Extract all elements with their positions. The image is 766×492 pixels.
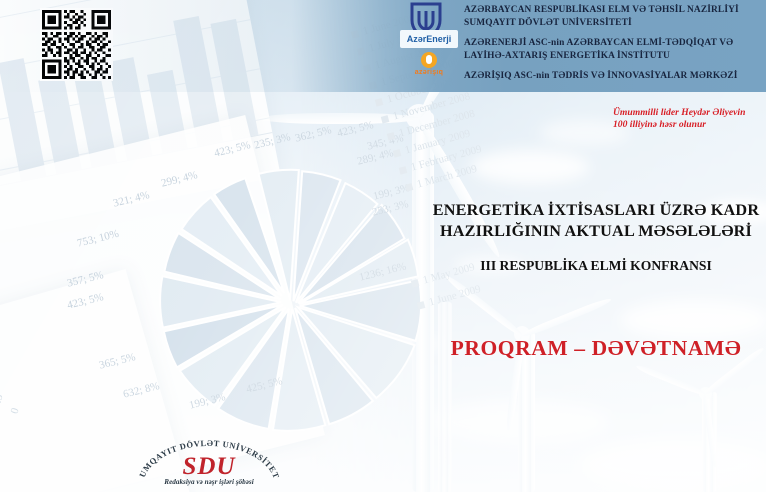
azerisiq-wordmark: azərişıq — [408, 69, 450, 76]
org-line: SUMQAYIT DÖVLƏT UNİVERSİTETİ — [464, 18, 632, 28]
organizing-institutions: AZƏRBAYCAN RESPUBLİKASI ELM VƏ TƏHSİL NA… — [464, 4, 764, 91]
program-cover: 423 289 253 299 400 200 0 0.30 0.88 0.35… — [0, 0, 766, 492]
title-line-1: ENERGETİKA İXTİSASLARI ÜZRƏ KADR — [433, 201, 759, 219]
org-line: AZƏRENERJİ ASC-nin AZƏRBAYCAN ELMİ-TƏDQİ… — [464, 38, 733, 48]
dedication-line-2: 100 illiyinə həsr olunur — [613, 119, 706, 130]
azerisiq-logo: azərişıq — [408, 52, 450, 82]
sdu-monogram: SDU — [134, 453, 284, 481]
org-block-3: AZƏRİŞIQ ASC-nin TƏDRİS VƏ İNNOVASİYALAR… — [464, 70, 764, 83]
org-line: AZƏRİŞIQ ASC-nin TƏDRİS VƏ İNNOVASİYALAR… — [464, 71, 738, 81]
org-line: LAYİHƏ-AXTARIŞ ENERGETİKA İNSTİTUTU — [464, 51, 670, 61]
sdu-publishing-logo: SUMQAYIT DÖVLƏT UNİVERSİTETİ SDU Redaksi… — [134, 437, 284, 489]
org-block-1: AZƏRBAYCAN RESPUBLİKASI ELM VƏ TƏHSİL NA… — [464, 4, 764, 29]
sdu-department-label: Redaksiya və nəşr işləri şöbəsi — [134, 478, 284, 486]
conference-title: ENERGETİKA İXTİSASLARI ÜZRƏ KADR HAZIRLI… — [426, 200, 766, 242]
lightbulb-icon — [421, 52, 437, 68]
dedication-line-1: Ümummilli lider Heydər Əliyevin — [613, 107, 745, 118]
conference-subtitle: III RESPUBLİKA ELMİ KONFRANSI — [426, 258, 766, 274]
org-line: AZƏRBAYCAN RESPUBLİKASI ELM VƏ TƏHSİL NA… — [464, 5, 739, 15]
dedication-text: Ümummilli lider Heydər Əliyevin 100 illi… — [613, 107, 763, 131]
azerenerji-logo: AzərEnerji — [400, 30, 458, 48]
program-label: PROQRAM – DƏVƏTNAMƏ — [426, 336, 766, 361]
title-line-2: HAZIRLIĞININ AKTUAL MƏSƏLƏLƏRİ — [440, 222, 752, 240]
header-content: AzərEnerji azərişıq AZƏRBAYCAN RESPUBLİK… — [398, 0, 766, 92]
org-block-2: AZƏRENERJİ ASC-nin AZƏRBAYCAN ELMİ-TƏDQİ… — [464, 37, 764, 62]
